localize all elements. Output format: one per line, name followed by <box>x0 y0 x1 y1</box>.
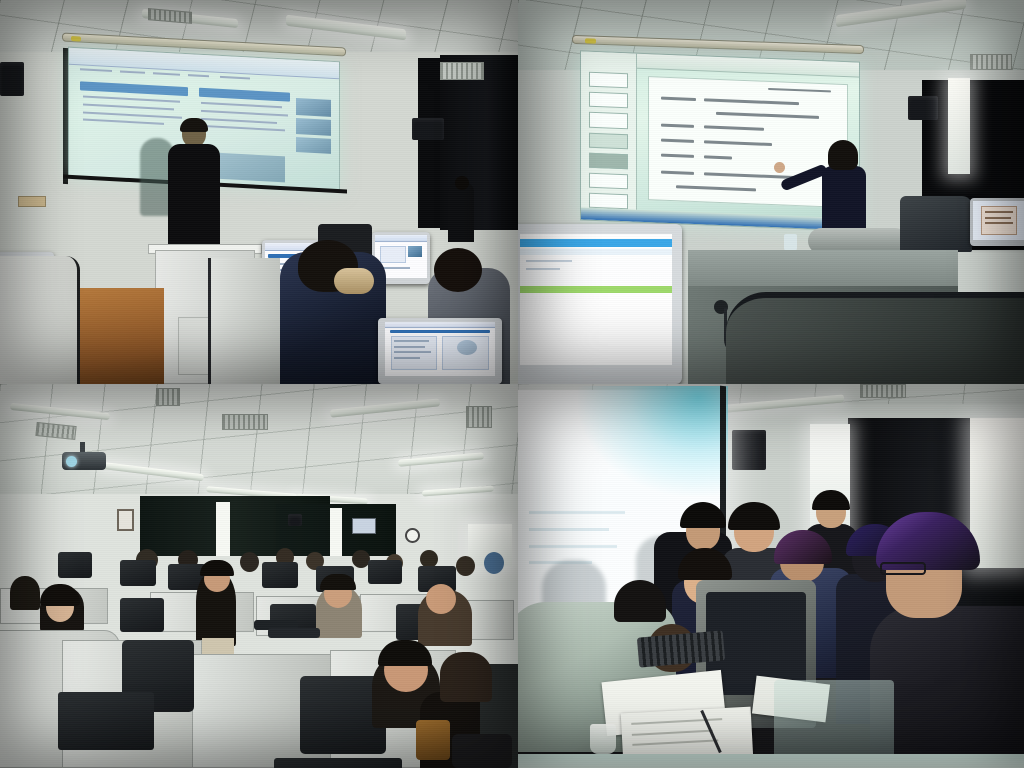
ceiling-vent <box>222 414 268 430</box>
wall-outlet <box>18 196 46 207</box>
photo-bottom-right <box>518 384 1024 768</box>
crt-monitor <box>378 318 502 384</box>
crt-monitor <box>58 552 92 578</box>
side-monitor <box>970 198 1024 246</box>
black-bag <box>452 734 512 768</box>
wall-clock <box>405 528 420 543</box>
student-head <box>455 176 469 190</box>
workstation-rows <box>0 544 518 768</box>
crt-monitor <box>58 692 154 750</box>
picture-frame <box>117 509 134 531</box>
wall-speaker <box>0 62 24 96</box>
photo-top-right <box>518 0 1024 384</box>
student-hair <box>200 560 234 576</box>
instructor <box>168 120 220 252</box>
glass-desktop <box>774 680 894 764</box>
plastic-cup <box>590 724 616 754</box>
foreground-monitor <box>518 224 682 384</box>
wall-speaker <box>908 96 938 120</box>
printer <box>900 196 972 252</box>
student-face <box>426 584 456 614</box>
keyboard <box>268 628 320 638</box>
crt-monitor <box>120 598 164 632</box>
window <box>948 78 970 174</box>
cubicle-divider <box>208 258 280 384</box>
student-head <box>456 556 475 576</box>
crt-monitor <box>120 560 156 586</box>
student-head <box>434 248 482 292</box>
fur-collar <box>334 268 374 294</box>
wood-floor-panel <box>72 288 164 384</box>
student-seated <box>448 182 474 242</box>
crt-monitor <box>368 560 402 584</box>
teaching-desk <box>688 250 958 290</box>
photo-top-left <box>0 0 518 384</box>
student-head <box>240 552 259 572</box>
photo-bottom-left <box>0 384 518 768</box>
brown-bag <box>416 720 450 760</box>
photo-collage <box>0 0 1024 768</box>
student-head <box>484 552 504 574</box>
ceiling-projector <box>62 452 106 470</box>
ceiling-vent <box>440 62 484 80</box>
crt-monitor <box>262 562 298 588</box>
handrail <box>726 292 1024 384</box>
student-seated <box>10 576 40 610</box>
wall-speaker <box>412 118 444 140</box>
ceiling-vent <box>156 388 180 406</box>
keyboard-tray <box>274 758 402 768</box>
ceiling-vent <box>466 406 492 428</box>
ppt-slide-panel <box>581 51 637 221</box>
ceiling-vent <box>970 54 1012 70</box>
cubicle-divider <box>0 256 80 384</box>
wall-speaker <box>288 514 302 526</box>
eyeglasses-icon <box>880 562 926 575</box>
desk-edge <box>518 754 1024 768</box>
student-hair <box>320 574 356 590</box>
notice-board <box>352 518 376 534</box>
student-seated <box>440 652 492 702</box>
